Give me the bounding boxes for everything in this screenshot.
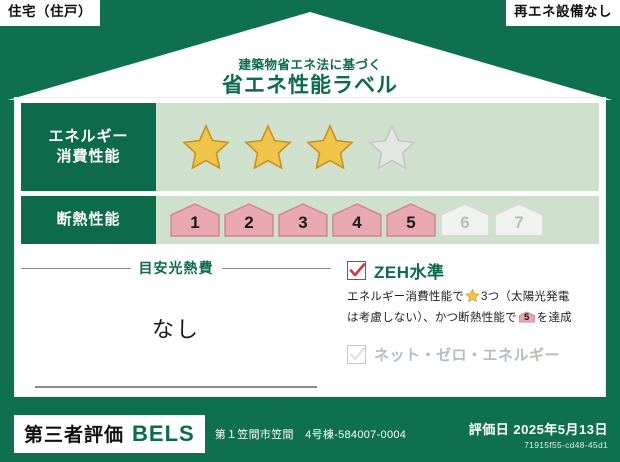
zeh-section: ZEH水準 エネルギー消費性能で3つ（太陽光発電 は考慮しない）、かつ断熱性能で…: [331, 254, 599, 394]
evaluation-date: 評価日 2025年5月13日: [469, 419, 608, 438]
section-divider: [35, 386, 317, 388]
label-title: 省エネ性能ラベル: [222, 74, 398, 98]
grade-number: 4: [352, 214, 361, 237]
utility-cost-section: 目安光熱費 なし: [21, 254, 331, 394]
insulation-grade-4: 4: [332, 203, 382, 237]
zeh-desc-part2: は考慮しない）、かつ断熱性能で: [347, 312, 517, 324]
lower-section: 目安光熱費 なし ZEH水準 エネルギー消費性能で3つ（太陽光発電: [21, 254, 599, 394]
insulation-grade-scale: 1 2 3 4 5: [156, 196, 599, 244]
grade-number: 3: [298, 214, 307, 237]
energy-label-line2: 消費性能: [56, 147, 120, 167]
evaluation-id: 71915f55-cd48-45d1: [469, 440, 608, 450]
tag-housing-type: 住宅（住戸）: [0, 0, 100, 26]
zeh-title: ZEH水準: [374, 258, 445, 283]
energy-label-line1: エネルギー: [48, 127, 128, 147]
heading-rule-right: [222, 268, 332, 269]
grade-number: 2: [244, 214, 253, 237]
grade-list: 1 2 3 4 5: [170, 203, 544, 237]
label-subtitle: 建築物省エネ法に基づく: [238, 59, 381, 73]
net-zero-energy-title: ネット・ゼロ・エネルギー: [374, 344, 560, 365]
evaluation-info: 評価日 2025年5月13日 71915f55-cd48-45d1: [469, 419, 608, 450]
heading-rule-left: [21, 268, 131, 269]
energy-star-rating: [156, 103, 599, 191]
inline-grade-badge-number: 5: [519, 310, 535, 324]
insulation-grade-2: 2: [224, 203, 274, 237]
insulation-grade-5: 5: [386, 203, 436, 237]
utility-cost-heading-text: 目安光熱費: [139, 258, 214, 278]
energy-performance-row: エネルギー 消費性能: [21, 103, 599, 191]
star-icon-empty-4: [366, 122, 418, 172]
bels-logo-en: BELS: [132, 421, 195, 447]
bels-logo: 第三者評価 BELS: [14, 415, 205, 453]
checkbox-checked-icon: [347, 261, 366, 280]
inline-grade-badge-icon: 5: [519, 310, 535, 324]
utility-cost-heading: 目安光熱費: [21, 258, 331, 278]
grade-number: 5: [406, 214, 415, 237]
label-body-panel: エネルギー 消費性能: [14, 97, 606, 397]
insulation-performance-label: 断熱性能: [21, 196, 156, 244]
insulation-grade-6: 6: [440, 203, 490, 237]
insulation-grade-3: 3: [278, 203, 328, 237]
insulation-label-text: 断熱性能: [56, 210, 120, 230]
energy-performance-label: エネルギー 消費性能: [21, 103, 156, 191]
bels-energy-label: 建築物省エネ法に基づく 省エネ性能ラベル 住宅（住戸） 再エネ設備なし エネルギ…: [0, 0, 620, 462]
utility-cost-value: なし: [21, 312, 331, 344]
net-zero-energy-row: ネット・ゼロ・エネルギー: [347, 344, 593, 365]
grade-number: 7: [514, 214, 523, 237]
insulation-grade-7: 7: [494, 203, 544, 237]
star-icon-filled-1: [180, 122, 232, 172]
inline-star-icon: [465, 288, 480, 310]
building-identifier: 第１笠間市笠間 4号棟-584007-0004: [215, 426, 407, 442]
zeh-desc-part1: エネルギー消費性能で: [347, 291, 464, 303]
tag-renewable-equipment: 再エネ設備なし: [506, 0, 620, 26]
zeh-desc-part3: を達成: [537, 312, 572, 324]
zeh-heading-row: ZEH水準: [347, 258, 593, 283]
bels-logo-ja: 第三者評価: [24, 420, 124, 447]
zeh-description: エネルギー消費性能で3つ（太陽光発電 は考慮しない）、かつ断熱性能で5を達成: [347, 288, 593, 328]
zeh-desc-stars: 3つ（太陽光発電: [481, 291, 570, 303]
star-icon-filled-2: [242, 122, 294, 172]
checkbox-unchecked-icon: [347, 345, 366, 364]
insulation-performance-row: 断熱性能 1 2 3: [21, 196, 599, 244]
insulation-grade-1: 1: [170, 203, 220, 237]
star-icon-filled-3: [304, 122, 356, 172]
grade-number: 1: [190, 214, 199, 237]
label-footer: 第三者評価 BELS 第１笠間市笠間 4号棟-584007-0004 評価日 2…: [0, 406, 620, 462]
grade-number: 6: [460, 214, 469, 237]
